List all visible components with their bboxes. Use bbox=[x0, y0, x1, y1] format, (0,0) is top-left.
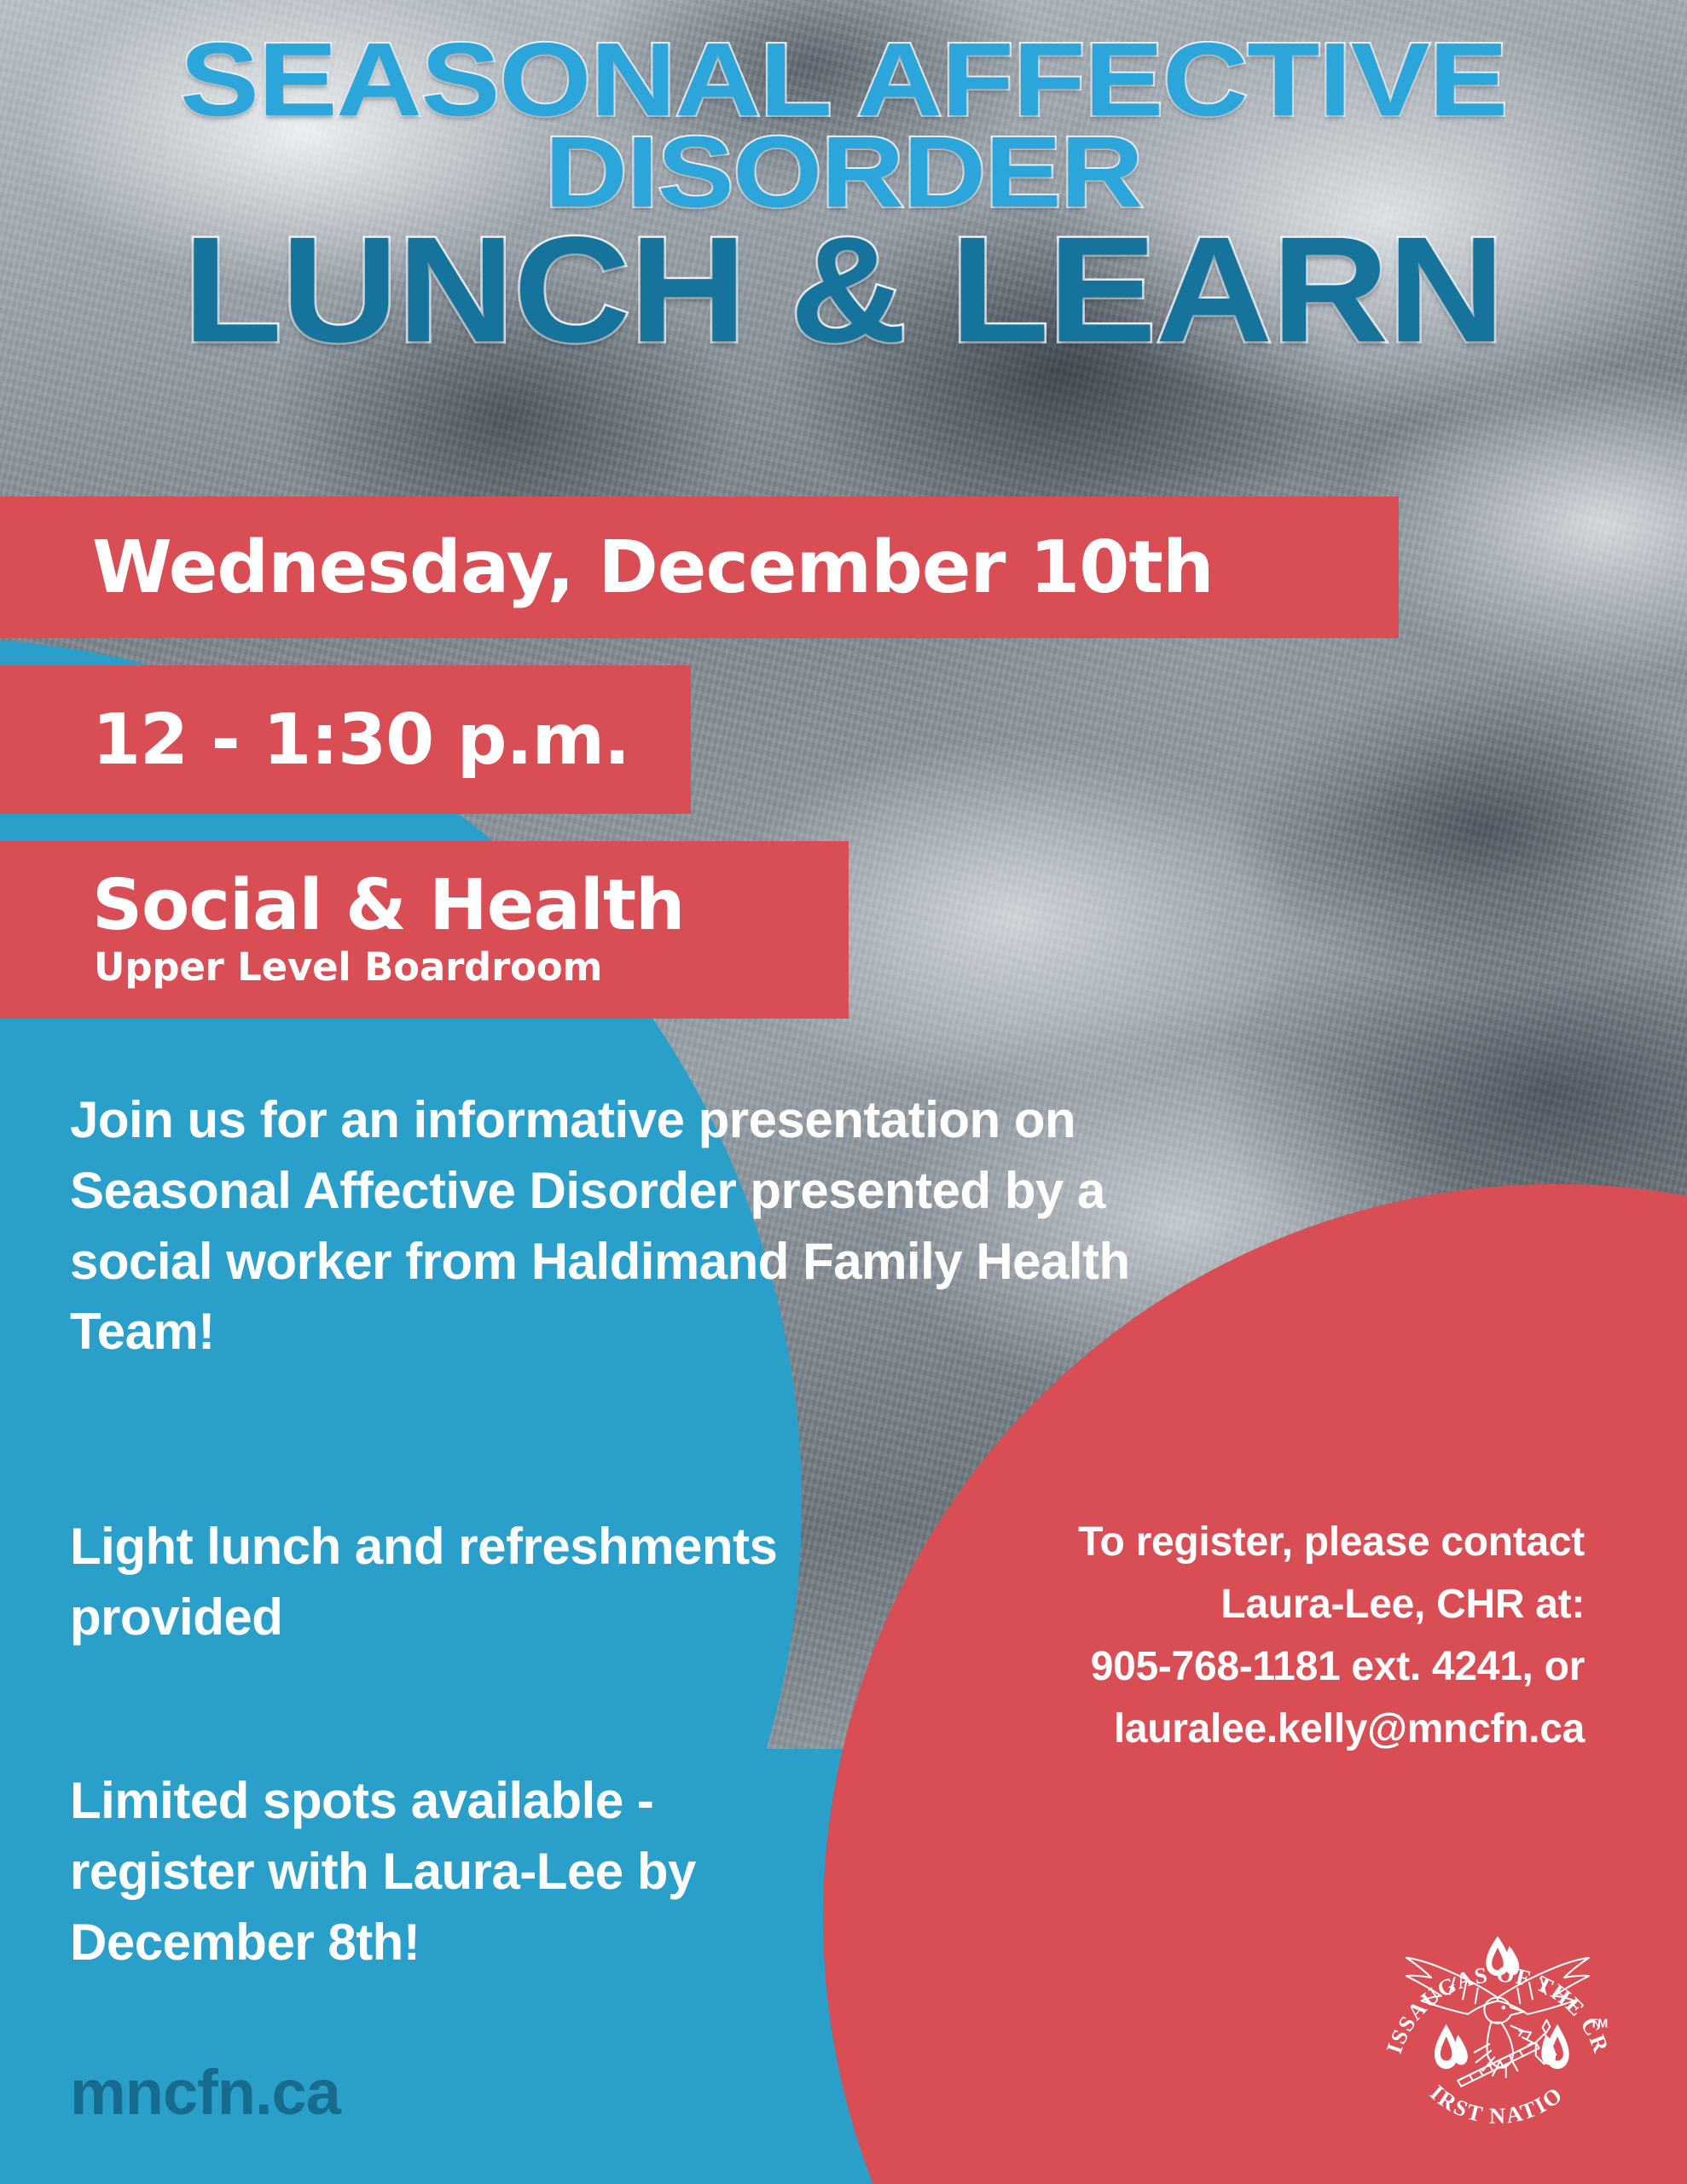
event-location-name: Social & Health bbox=[0, 871, 849, 941]
lunch-paragraph: Light lunch and refreshments provided bbox=[70, 1512, 889, 1653]
event-location-room: Upper Level Boardroom bbox=[0, 944, 849, 990]
event-date-text: Wednesday, December 10th bbox=[0, 526, 1399, 610]
contact-block: To register, please contact Laura-Lee, C… bbox=[1039, 1512, 1585, 1761]
event-location-banner: Social & Health Upper Level Boardroom bbox=[0, 841, 849, 1019]
website-url[interactable]: mncfn.ca bbox=[70, 2056, 340, 2129]
headline-line-2: DISORDER bbox=[0, 129, 1687, 218]
contact-email[interactable]: lauralee.kelly@mncfn.ca bbox=[1039, 1699, 1585, 1761]
headline-line-3: LUNCH & LEARN bbox=[0, 224, 1687, 357]
contact-line-2: Laura-Lee, CHR at: bbox=[1039, 1574, 1585, 1636]
crest-trademark-label: TM bbox=[1590, 2017, 1608, 2030]
event-time-banner: 12 - 1:30 p.m. bbox=[0, 665, 691, 814]
headline-line-1: SEASONAL AFFECTIVE bbox=[0, 34, 1687, 125]
event-date-banner: Wednesday, December 10th bbox=[0, 497, 1399, 638]
crest-arc-top-text: MISSISSAUGAS OF THE CREDIT bbox=[1373, 1918, 1614, 2057]
event-time-text: 12 - 1:30 p.m. bbox=[0, 700, 691, 781]
poster-headline: SEASONAL AFFECTIVE DISORDER LUNCH & LEAR… bbox=[0, 34, 1687, 357]
intro-paragraph: Join us for an informative presentation … bbox=[70, 1085, 1196, 1368]
contact-line-1: To register, please contact bbox=[1039, 1512, 1585, 1574]
poster-canvas: SEASONAL AFFECTIVE DISORDER LUNCH & LEAR… bbox=[0, 0, 1687, 2184]
crest-arc-top-label: MISSISSAUGAS OF THE CREDIT bbox=[1373, 1918, 1614, 2057]
contact-phone[interactable]: 905-768-1181 ext. 4241, or bbox=[1039, 1636, 1585, 1699]
registration-deadline-paragraph: Limited spots available - register with … bbox=[70, 1766, 812, 1978]
mncfn-crest-logo: MISSISSAUGAS OF THE CREDIT FIRST NATION … bbox=[1373, 1918, 1622, 2167]
